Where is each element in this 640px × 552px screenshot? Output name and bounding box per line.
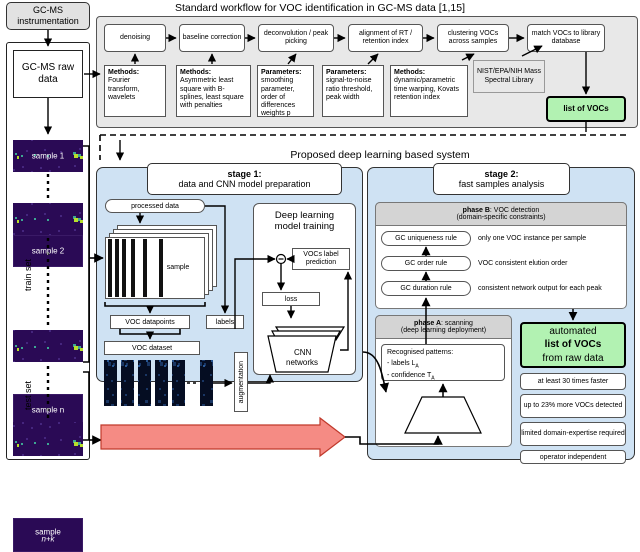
gcms-raw-data-box: GC-MS raw data: [13, 50, 83, 98]
standard-workflow-title: Standard workflow for VOC identification…: [170, 1, 470, 15]
detail-peakpicking-body: signal-to-noise ratio threshold, peak wi…: [326, 77, 380, 102]
detail-baseline: Methods: Asymmetric least square with B-…: [176, 65, 251, 117]
step-deconvolution-label: deconvolution / peak picking: [259, 30, 333, 47]
pattern1-text: - labels L: [387, 360, 415, 367]
gc-duration-rule-label: GC duration rule: [400, 285, 451, 292]
library-box: NIST/EPA/NIH Mass Spectral Library: [473, 60, 545, 93]
detail-alignment-head: Methods:: [394, 69, 464, 77]
benefit-more-vocs-label: up to 23% more VOCs detected: [524, 402, 623, 410]
recognised-patterns-title: Recognised patterns:: [387, 348, 499, 359]
phaseA-header-line1: phase A: scanning: [414, 320, 473, 327]
gc-uniqueness-rule-desc-text: only one VOC instance per sample: [478, 235, 586, 242]
dataset-strip-5: [172, 360, 185, 406]
sample-n-plus-k-label2: n+k: [14, 535, 82, 544]
stage2-header: stage 2: fast samples analysis: [433, 163, 570, 195]
detail-peakpicking-head: Parameters:: [326, 69, 380, 77]
voc-dataset-box: VOC dataset: [104, 341, 200, 355]
phaseA-header-sub: (deep learning deployment): [401, 327, 486, 334]
train-set-text: train set: [23, 259, 33, 291]
labels-box: labels: [206, 315, 244, 329]
step-alignment[interactable]: alignment of RT / retention index: [348, 24, 423, 52]
stage2-header-sub: fast samples analysis: [459, 179, 545, 189]
recognised-pattern-labels: - labels LA: [387, 359, 499, 371]
detail-deconvolution-body: smoothing parameter, order of difference…: [261, 77, 310, 118]
augmentation-box: augmentation: [234, 352, 248, 412]
voc-dataset-label: VOC dataset: [132, 345, 172, 352]
vocs-label-prediction-label: VOCs label prediction: [293, 251, 349, 268]
step-deconvolution[interactable]: deconvolution / peak picking: [258, 24, 334, 52]
detail-alignment: Methods: dynamic/parametric time warping…: [390, 65, 468, 117]
loss-label: loss: [285, 296, 297, 303]
benefit-operator-independent-label: operator independent: [540, 454, 607, 461]
best-network-trapezoid: best network: [405, 397, 481, 433]
benefit-faster-label: at least 30 times faster: [538, 378, 608, 385]
dataset-strip-1: [104, 360, 117, 406]
step-match-library-label: match VOCs to library database: [528, 30, 604, 47]
recognised-patterns-box: Recognised patterns: - labels LA - confi…: [381, 344, 505, 381]
detail-denoising: Methods: Fourier transform, wavelets: [104, 65, 166, 117]
dataset-strip-6: [200, 360, 213, 406]
gc-uniqueness-rule-box: GC uniqueness rule: [381, 231, 471, 246]
list-of-vocs-box: list of VOCs: [546, 96, 626, 122]
fast-analysis-arrow-text: fast analysis of test/new set: [177, 434, 263, 441]
step-denoising[interactable]: denoising: [104, 24, 166, 52]
labels-label: labels: [216, 319, 234, 326]
voc-datapoints-box: VOC datapoints: [110, 315, 190, 329]
gc-duration-rule-desc-text: consistent network output for each peak: [478, 285, 602, 292]
model-training-title: Deep learning model training: [255, 207, 354, 235]
step-denoising-label: denoising: [120, 34, 150, 42]
detail-baseline-body: Asymmetric least square with B-splines, …: [180, 77, 247, 110]
detail-deconvolution: Parameters: smoothing parameter, order o…: [257, 65, 314, 117]
automated-output-l2: list of VOCs: [545, 338, 602, 352]
stage2-header-bold: stage 2:: [484, 169, 518, 179]
loss-box: loss: [262, 292, 320, 306]
phaseB-header-rest: : VOC detection: [490, 207, 539, 214]
processed-data-label: processed data: [131, 203, 179, 210]
sample-2-label: sample 2: [14, 247, 82, 256]
augmentation-label: augmentation: [238, 361, 245, 403]
gc-order-rule-desc: VOC consistent elution order: [478, 256, 623, 271]
gc-order-rule-desc-text: VOC consistent elution order: [478, 260, 568, 267]
pattern1-sub: A: [415, 363, 418, 369]
gc-order-rule-box: GC order rule: [381, 256, 471, 271]
sample-voc-bands: [107, 239, 167, 297]
stage1-header: stage 1: data and CNN model preparation: [147, 163, 342, 195]
processed-data-pill: processed data: [105, 199, 205, 213]
sample-n-plus-k-heatmap: sample n+k: [13, 518, 83, 552]
fast-analysis-arrow-label: fast analysis of test/new set: [120, 430, 320, 444]
step-baseline-correction-label: baseline correction: [183, 34, 242, 42]
phaseA-header-rest: : scanning: [441, 320, 473, 327]
sample-1-label: sample 1: [14, 152, 82, 161]
benefit-more-vocs: up to 23% more VOCs detected: [520, 394, 626, 418]
step-match-library[interactable]: match VOCs to library database: [527, 24, 605, 52]
library-box-label: NIST/EPA/NIH Mass Spectral Library: [476, 68, 542, 85]
best-network-l2: network: [431, 415, 456, 422]
dataset-strip-2: [121, 360, 134, 406]
vocs-label-prediction-box: VOCs label prediction: [292, 248, 350, 270]
phaseA-header: phase A: scanning (deep learning deploym…: [375, 315, 512, 339]
step-clustering-label: clustering VOCs across samples: [438, 30, 508, 47]
model-training-title-l1: Deep learning: [275, 210, 334, 221]
detail-peakpicking: Parameters: signal-to-noise ratio thresh…: [322, 65, 384, 117]
sample-1-heatmap: sample 1: [13, 140, 83, 172]
automated-output-box: automated list of VOCs from raw data: [520, 322, 626, 368]
gc-uniqueness-rule-label: GC uniqueness rule: [395, 235, 457, 242]
pattern2-sub: A: [431, 375, 434, 381]
step-clustering[interactable]: clustering VOCs across samples: [437, 24, 509, 52]
stage1-header-bold: stage 1:: [227, 169, 261, 179]
gcms-raw-data-label: GC-MS raw data: [14, 62, 82, 86]
phaseB-header-bold: phase B: [463, 207, 490, 214]
phaseA-header-bold: phase A: [414, 320, 441, 327]
proposed-system-title-text: Proposed deep learning based system: [290, 149, 469, 161]
phaseB-header-sub: (domain-specific constraints): [456, 214, 545, 221]
phaseB-header-line1: phase B: VOC detection: [463, 207, 540, 214]
detail-denoising-body: Fourier transform, wavelets: [108, 77, 162, 102]
standard-workflow-title-text: Standard workflow for VOC identification…: [170, 1, 470, 15]
gc-duration-rule-box: GC duration rule: [381, 281, 471, 296]
recognised-pattern-confidence: - confidence TA: [387, 371, 499, 383]
dataset-strip-4: [155, 360, 168, 406]
gcms-instrumentation-label: GC-MS instrumentation: [7, 5, 89, 26]
cnn-networks-label: CNN networks: [276, 336, 328, 345]
cnn-networks-group: CNN networks: [258, 322, 348, 374]
sample-n-label: sample n: [14, 406, 82, 415]
best-network-l1: best: [436, 408, 449, 415]
step-alignment-label: alignment of RT / retention index: [349, 30, 422, 47]
gcms-instrumentation-box: GC-MS instrumentation: [6, 2, 90, 30]
benefit-limited-expertise-label: limited domain-expertise required: [521, 430, 625, 438]
automated-output-l1: automated: [549, 325, 596, 339]
benefit-faster: at least 30 times faster: [520, 373, 626, 390]
benefit-limited-expertise: limited domain-expertise required: [520, 422, 626, 446]
step-baseline-correction[interactable]: baseline correction: [179, 24, 245, 52]
stage1-header-sub: data and CNN model preparation: [178, 179, 310, 189]
proposed-system-title: Proposed deep learning based system: [255, 148, 505, 162]
gc-uniqueness-rule-desc: only one VOC instance per sample: [478, 231, 623, 246]
model-training-title-l2: model training: [275, 221, 335, 232]
gc-order-rule-label: GC order rule: [405, 260, 447, 267]
detail-deconvolution-head: Parameters:: [261, 69, 310, 77]
detail-baseline-head: Methods:: [180, 69, 247, 77]
benefit-operator-independent: operator independent: [520, 450, 626, 464]
list-of-vocs-label: list of VOCs: [563, 104, 608, 113]
detail-alignment-body: dynamic/parametric time warping, Kovats …: [394, 77, 464, 102]
pattern2-text: - confidence T: [387, 372, 431, 379]
phaseB-header: phase B: VOC detection (domain-specific …: [375, 202, 627, 226]
dataset-strip-3: [138, 360, 151, 406]
voc-datapoints-label: VOC datapoints: [125, 319, 174, 326]
gc-duration-rule-desc: consistent network output for each peak: [478, 281, 630, 296]
automated-output-l3: from raw data: [542, 352, 603, 366]
detail-denoising-head: Methods:: [108, 69, 162, 77]
